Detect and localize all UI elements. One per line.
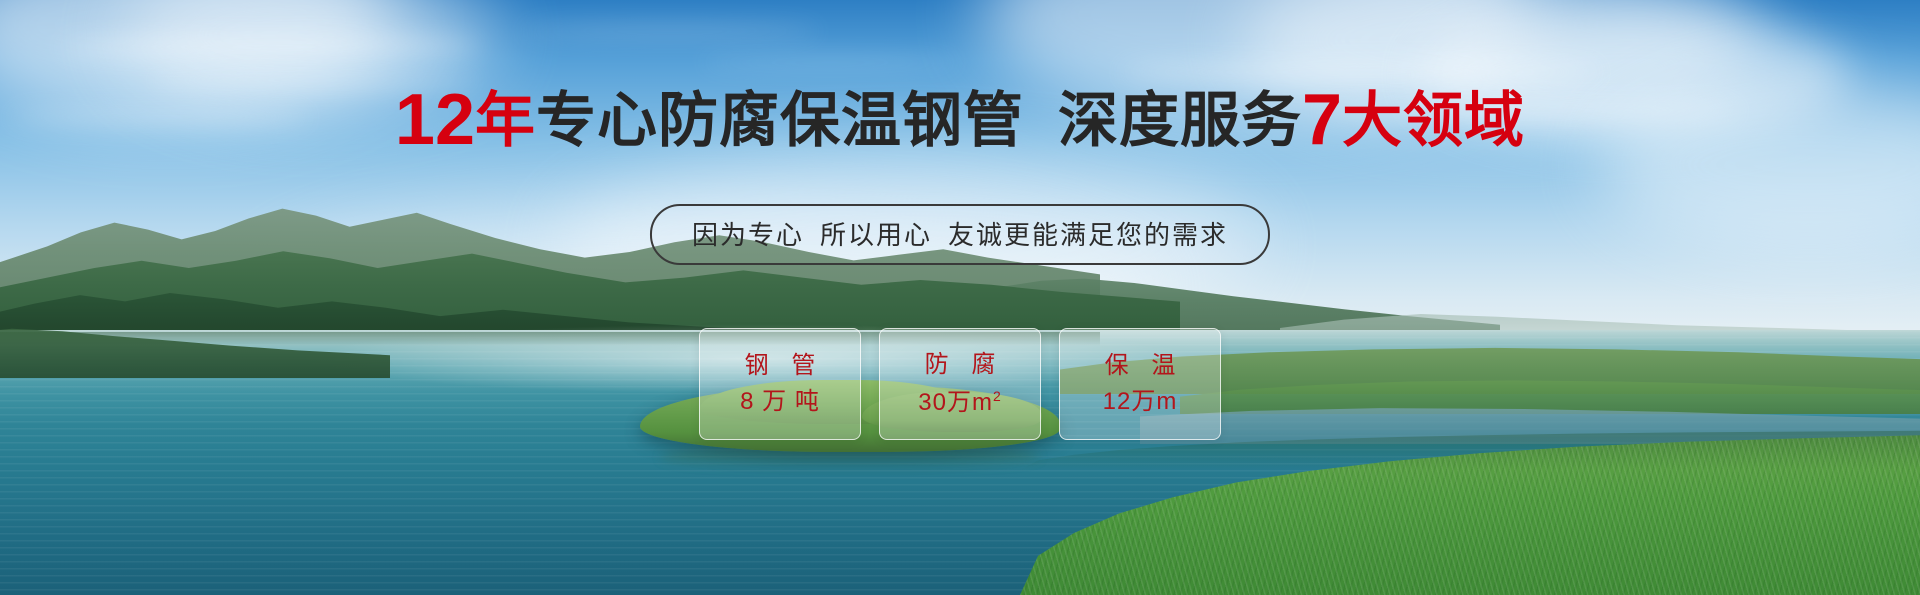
stat-card-label: 防 腐 [917, 353, 1004, 377]
stat-card-value-text: 30万m [918, 389, 993, 416]
years-number: 12 [395, 80, 475, 160]
subtitle-part-1: 因为专心 [692, 220, 804, 250]
subtitle-part-3: 友诚更能满足您的需求 [948, 220, 1228, 250]
fields-unit: 大领域 [1342, 87, 1525, 154]
stat-card-value-text: 8 万 吨 [740, 388, 820, 415]
banner-headline: 12年专心防腐保温钢管深度服务7大领域 [0, 84, 1920, 156]
headline-service-text: 深度服务 [1058, 87, 1302, 154]
stat-card-label: 保 温 [1097, 354, 1184, 378]
years-unit: 年 [475, 87, 536, 154]
fields-number: 7 [1302, 80, 1342, 160]
stat-card-value: 12万m [1103, 390, 1178, 414]
stat-card-steel-pipe[interactable]: 钢 管 8 万 吨 [699, 328, 861, 440]
stat-card-label: 钢 管 [737, 354, 824, 378]
stat-card-group: 钢 管 8 万 吨 防 腐 30万m2 保 温 12万m [699, 328, 1221, 440]
headline-main-text: 专心防腐保温钢管 [536, 87, 1024, 154]
hero-banner: 12年专心防腐保温钢管深度服务7大领域 因为专心所以用心友诚更能满足您的需求 钢… [0, 0, 1920, 595]
stat-card-value: 8 万 吨 [740, 390, 820, 414]
stat-card-anticorrosion[interactable]: 防 腐 30万m2 [879, 328, 1041, 440]
stat-card-value: 30万m2 [918, 389, 1001, 415]
subtitle-part-2: 所以用心 [820, 220, 932, 250]
stat-card-value-text: 12万m [1103, 388, 1178, 415]
stat-card-insulation[interactable]: 保 温 12万m [1059, 328, 1221, 440]
stat-card-value-superscript: 2 [993, 388, 1002, 404]
banner-content: 12年专心防腐保温钢管深度服务7大领域 因为专心所以用心友诚更能满足您的需求 钢… [0, 0, 1920, 595]
banner-subtitle-pill: 因为专心所以用心友诚更能满足您的需求 [650, 204, 1270, 265]
